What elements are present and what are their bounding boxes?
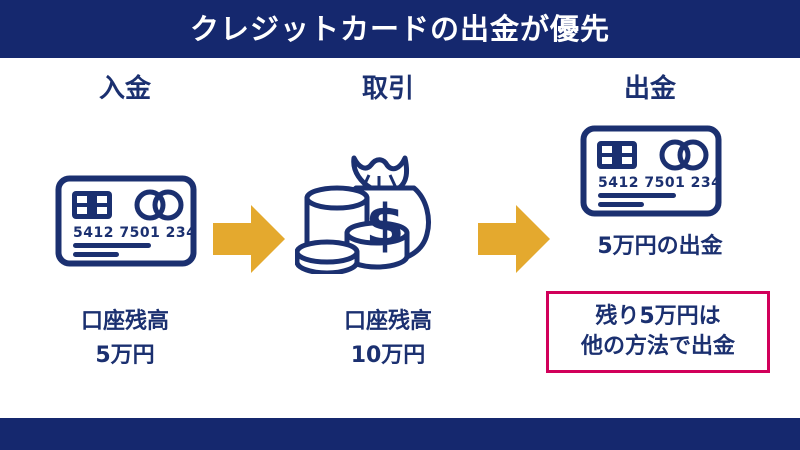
credit-card-icon-withdrawal: 5412 7501 2345 (580, 125, 722, 221)
card-number-deposit: 5412 7501 2345 (73, 225, 197, 241)
coin-flat-icon (297, 242, 357, 273)
bottom-accent-bar (0, 418, 800, 450)
caption-deposit-line-2: 5万円 (40, 339, 210, 373)
arrow-transaction-to-withdrawal-icon (478, 203, 550, 279)
card-number-withdrawal: 5412 7501 2345 (598, 175, 722, 191)
caption-transaction-balance: 口座残高 10万円 (303, 305, 473, 373)
column-header-withdrawal: 出金 (580, 76, 720, 102)
column-header-deposit: 入金 (55, 76, 195, 102)
coins-and-money-bag-icon: $ (295, 152, 455, 278)
withdrawal-amount-label: 5万円の出金 (560, 236, 760, 258)
caption-deposit-line-1: 口座残高 (40, 305, 210, 339)
column-header-transaction: 取引 (318, 76, 458, 102)
alert-line-2: 他の方法で出金 (581, 332, 735, 362)
card-chip-icon (597, 141, 637, 169)
arrow-deposit-to-transaction-icon (213, 203, 285, 279)
caption-transaction-line-1: 口座残高 (303, 305, 473, 339)
title-banner: クレジットカードの出金が優先 (0, 0, 800, 58)
caption-transaction-line-2: 10万円 (303, 339, 473, 373)
caption-deposit-balance: 口座残高 5万円 (40, 305, 210, 373)
dollar-symbol: $ (366, 193, 405, 258)
remaining-balance-alert-box: 残り5万円は 他の方法で出金 (546, 291, 770, 373)
card-chip-icon (72, 191, 112, 219)
page-title: クレジットカードの出金が優先 (190, 15, 610, 44)
alert-line-1: 残り5万円は (595, 302, 720, 332)
infographic-canvas: クレジットカードの出金が優先 入金 取引 出金 5412 7501 2345 (0, 0, 800, 450)
credit-card-icon-deposit: 5412 7501 2345 (55, 175, 197, 271)
